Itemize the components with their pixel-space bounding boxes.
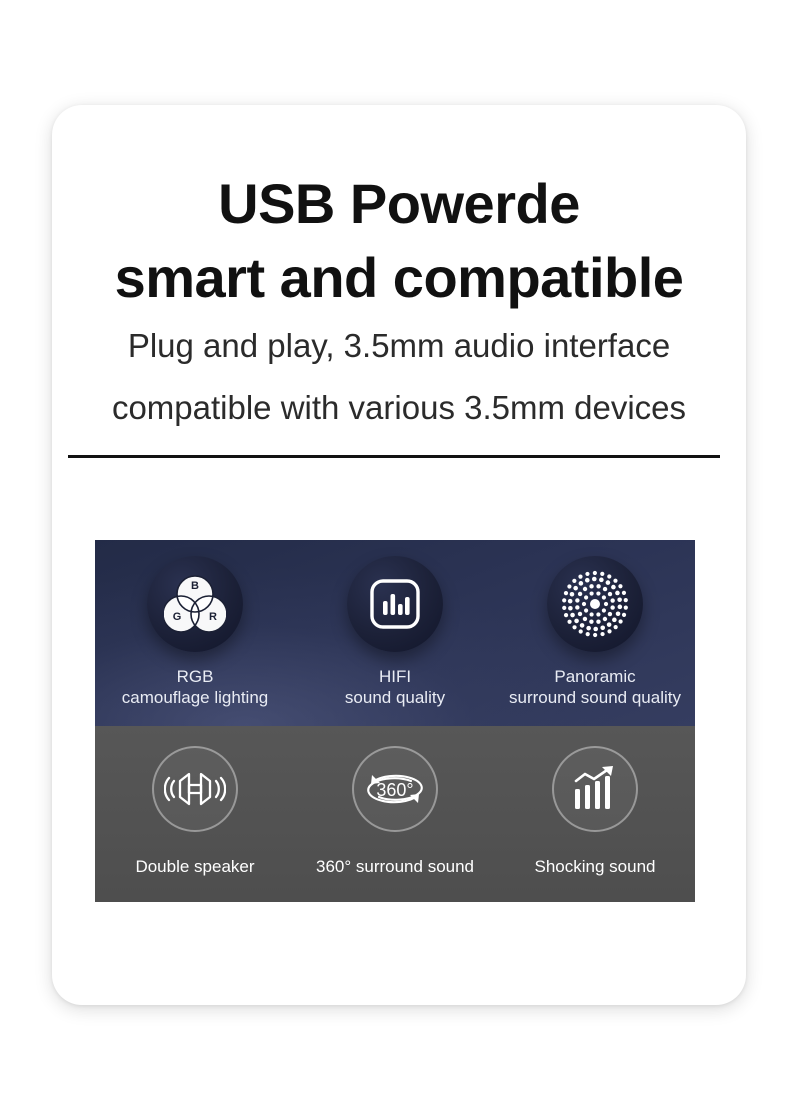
page-title-line-2: smart and compatible <box>52 241 746 315</box>
360-icon-text: 360° <box>376 780 413 800</box>
feature-item-360: 360° 360° surround sound <box>295 726 495 902</box>
feature-item-shocking-sound: Shocking sound <box>495 726 695 902</box>
feature-item-double-speaker: Double speaker <box>95 726 295 902</box>
feature-label-rgb: RGB camouflage lighting <box>122 666 268 708</box>
feature-label-double-speaker: Double speaker <box>135 856 254 877</box>
shocking-sound-icon-ring <box>552 746 638 832</box>
rgb-icon-bubble: B G R <box>147 556 243 652</box>
panoramic-dots-icon <box>561 570 629 638</box>
svg-text:G: G <box>173 611 182 623</box>
360-rotation-icon: 360° <box>359 766 431 812</box>
feature-label-panoramic-line2: surround sound quality <box>509 687 681 708</box>
heading-block: USB Powerde smart and compatible Plug an… <box>52 167 746 439</box>
360-icon-ring: 360° <box>352 746 438 832</box>
feature-label-panoramic: Panoramic surround sound quality <box>509 666 681 708</box>
feature-item-panoramic: Panoramic surround sound quality <box>495 540 695 726</box>
feature-item-rgb: B G R RGB camouflage lighting <box>95 540 295 726</box>
feature-label-panoramic-line1: Panoramic <box>509 666 681 687</box>
page-subtitle-line-1: Plug and play, 3.5mm audio interface <box>52 315 746 377</box>
heading-divider <box>68 455 720 458</box>
equalizer-bars-icon <box>366 575 424 633</box>
feature-label-hifi: HIFI sound quality <box>345 666 445 708</box>
feature-label-rgb-line2: camouflage lighting <box>122 687 268 708</box>
double-speaker-icon <box>164 766 226 812</box>
feature-label-360: 360° surround sound <box>316 856 474 877</box>
svg-text:R: R <box>209 611 217 623</box>
feature-label-hifi-line2: sound quality <box>345 687 445 708</box>
hifi-icon-bubble <box>347 556 443 652</box>
feature-row-top: B G R RGB camouflage lighting <box>95 540 695 726</box>
feature-panel: B G R RGB camouflage lighting <box>95 540 695 902</box>
feature-row-bottom: Double speaker <box>95 726 695 902</box>
feature-label-shocking-sound: Shocking sound <box>535 856 656 877</box>
feature-item-hifi: HIFI sound quality <box>295 540 495 726</box>
double-speaker-icon-ring <box>152 746 238 832</box>
rising-bar-chart-icon <box>569 765 621 813</box>
page-subtitle-line-2: compatible with various 3.5mm devices <box>52 377 746 439</box>
rgb-circles-icon: B G R <box>164 574 226 634</box>
feature-label-hifi-line1: HIFI <box>345 666 445 687</box>
feature-label-rgb-line1: RGB <box>122 666 268 687</box>
svg-text:B: B <box>191 580 199 592</box>
page-title-line-1: USB Powerde <box>52 167 746 241</box>
product-feature-card: USB Powerde smart and compatible Plug an… <box>52 105 746 1005</box>
panoramic-icon-bubble <box>547 556 643 652</box>
